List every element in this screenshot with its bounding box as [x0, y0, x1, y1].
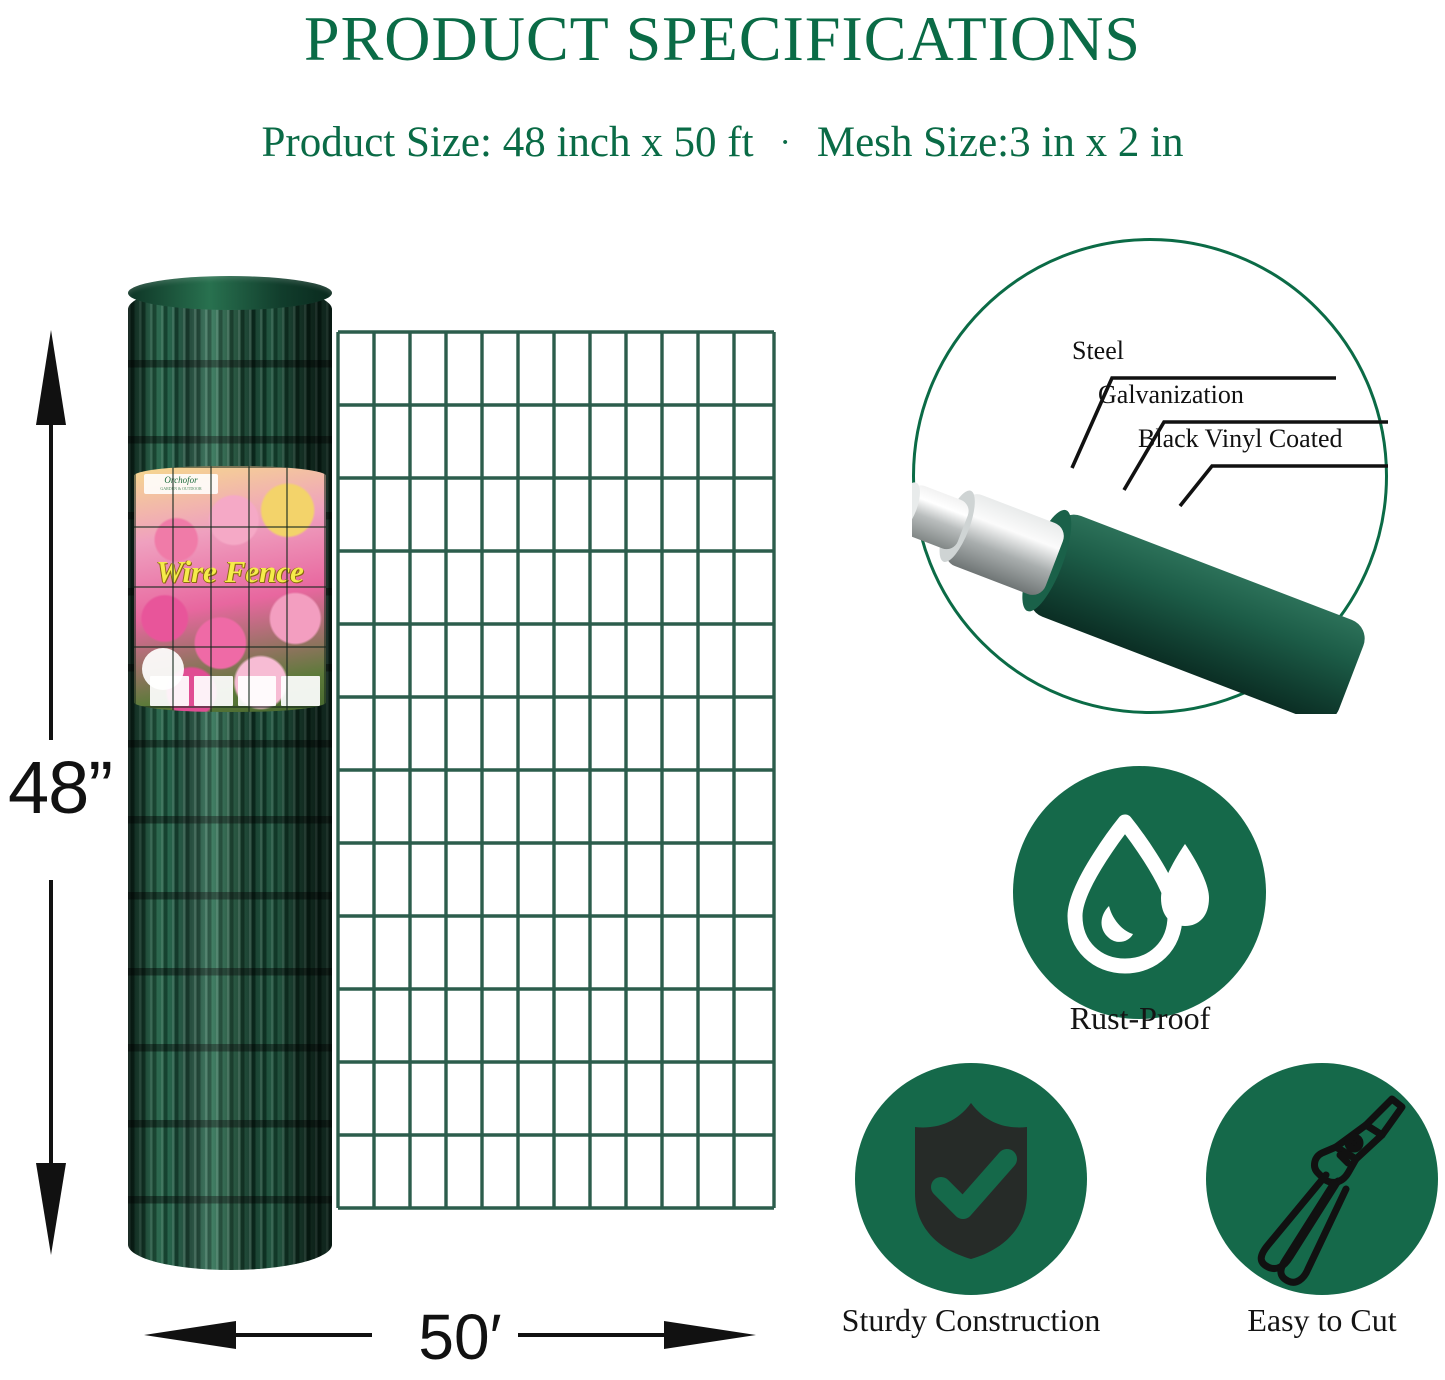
- spec-subtitle: Product Size: 48 inch x 50 ft·Mesh Size:…: [0, 118, 1445, 167]
- feature-label-rust-proof: Rust-Proof: [1000, 1000, 1280, 1037]
- feature-label-easy-to-cut: Easy to Cut: [1205, 1302, 1439, 1339]
- callout-black-vinyl-coated: Black Vinyl Coated: [1138, 424, 1342, 454]
- water-drop-icon: [1013, 766, 1266, 1019]
- subtitle-separator: ·: [754, 124, 817, 162]
- height-dimension-label: 48”: [0, 745, 120, 830]
- wire-mesh-panel: [336, 330, 776, 1214]
- product-label: Orchofor GARDEN & OUTDOOR Wire Fence: [134, 466, 326, 712]
- pliers-icon: [1206, 1063, 1438, 1295]
- product-size-text: Product Size: 48 inch x 50 ft: [261, 118, 753, 167]
- callout-galvanization: Galvanization: [1098, 380, 1244, 410]
- roll-body: [128, 284, 332, 1270]
- roll-top-ellipse: [128, 276, 332, 310]
- feature-label-sturdy-construction: Sturdy Construction: [790, 1302, 1152, 1339]
- wire-cross-section-diagram: [912, 238, 1388, 714]
- wire-fence-roll: Orchofor GARDEN & OUTDOOR Wire Fence: [128, 284, 332, 1270]
- shield-check-icon: [855, 1063, 1087, 1295]
- callout-steel: Steel: [1072, 336, 1124, 366]
- roll-shading: [128, 284, 332, 1270]
- mesh-size-text: Mesh Size:3 in x 2 in: [817, 118, 1184, 167]
- product-specifications-infographic: PRODUCT SPECIFICATIONS Product Size: 48 …: [0, 0, 1445, 1380]
- label-mesh-overlay: [134, 466, 326, 712]
- width-dimension-label: 50′: [380, 1300, 540, 1374]
- page-title: PRODUCT SPECIFICATIONS: [0, 2, 1445, 76]
